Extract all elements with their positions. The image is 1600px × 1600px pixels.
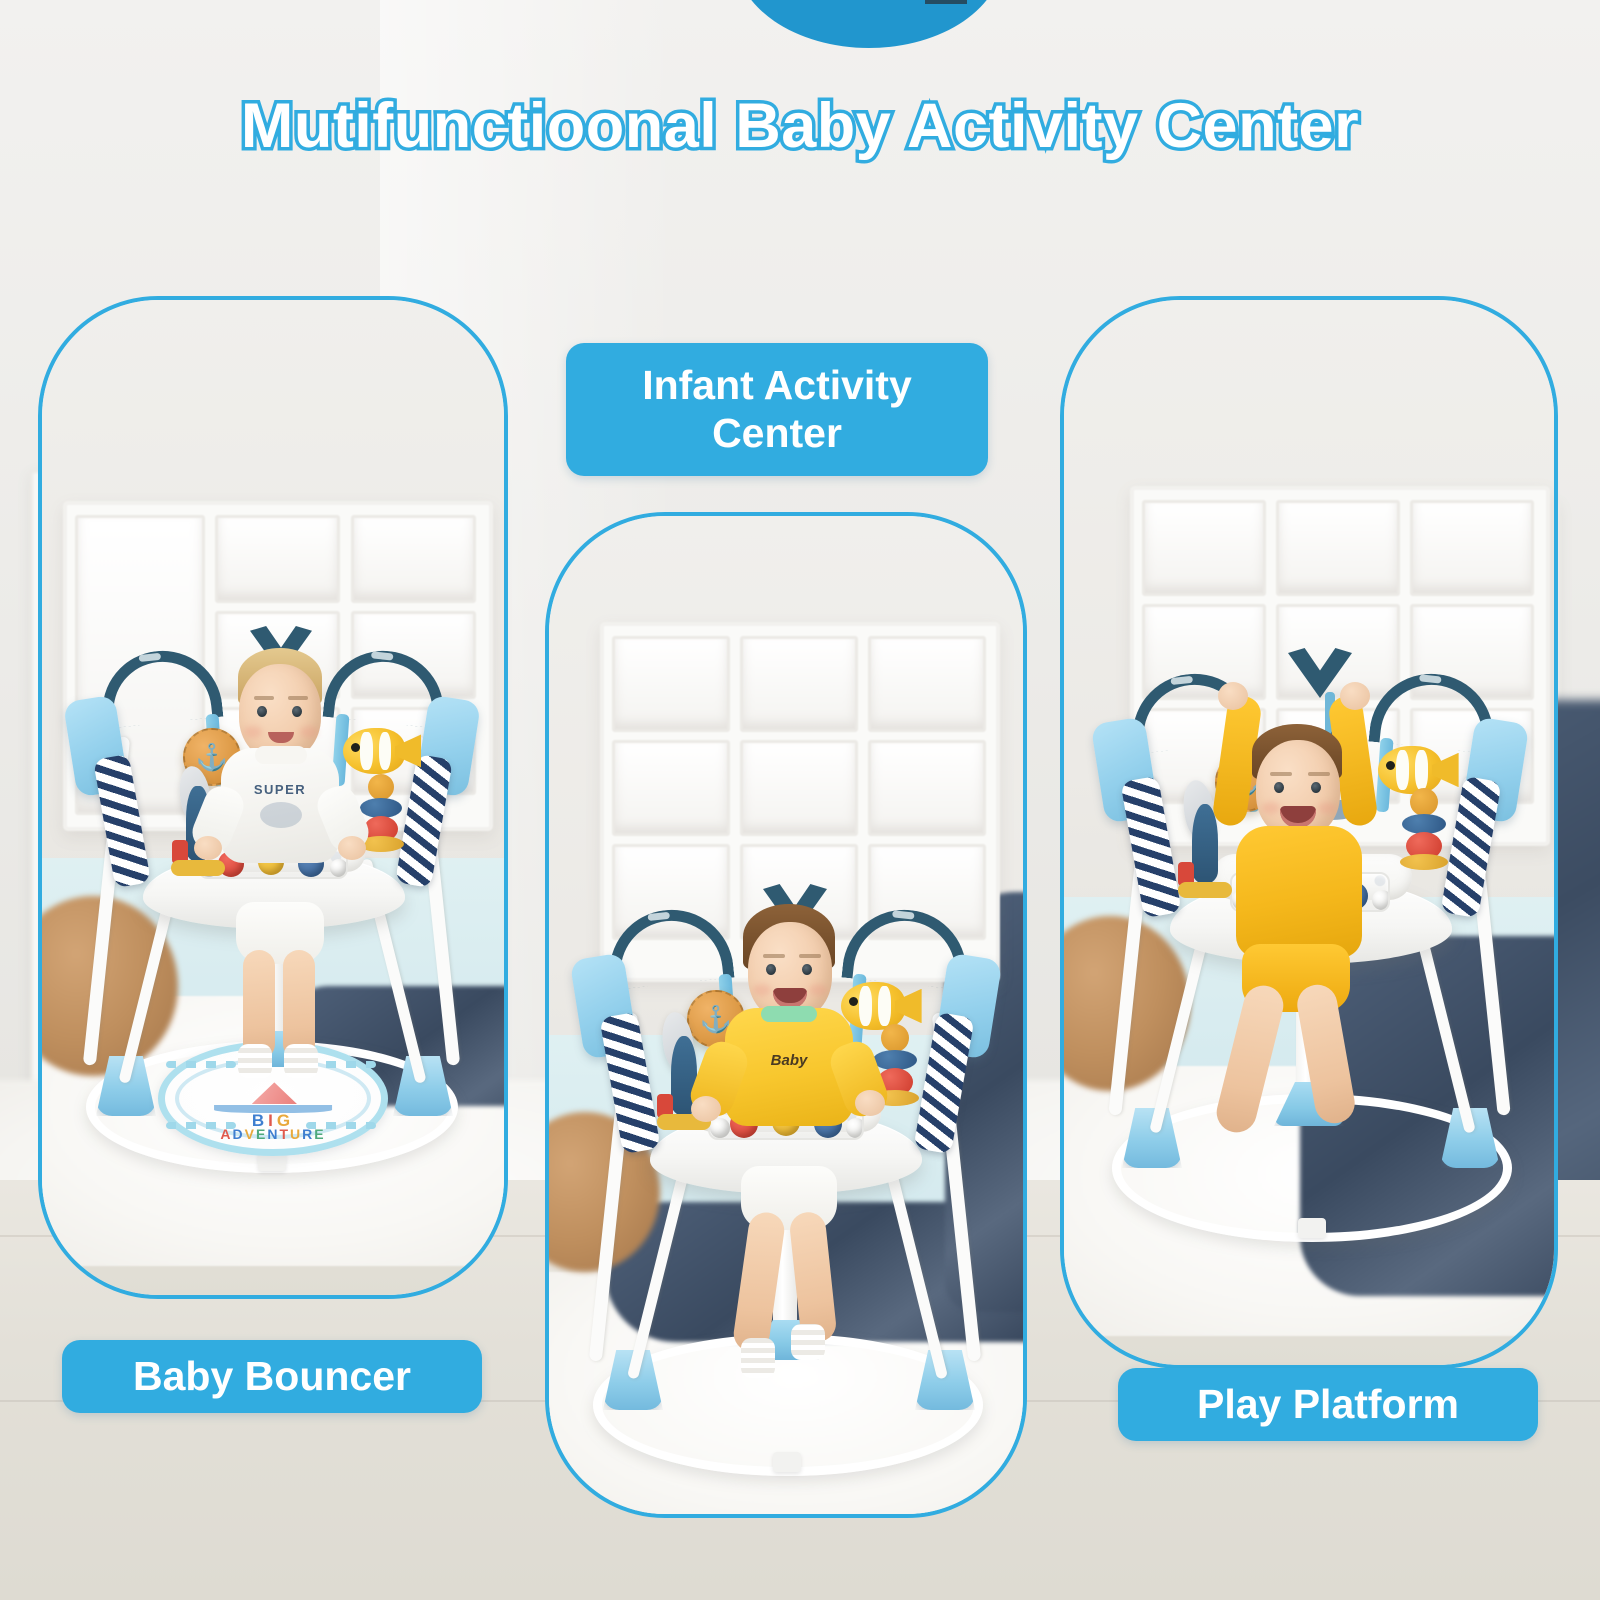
badge-play-platform[interactable]: Play Platform [1118, 1368, 1538, 1441]
product-infant-activity-center: ⚓ [545, 512, 1027, 1518]
baby-eyebrow [1270, 772, 1292, 776]
baby-hand [1218, 682, 1248, 710]
baby-leg [731, 1210, 786, 1354]
baby-hand [194, 836, 222, 860]
scene-infant-activity-center: ⚓ [545, 512, 1027, 1518]
baby-eye [257, 706, 267, 717]
baby-cheek [753, 984, 771, 996]
baby-cheek [300, 726, 318, 738]
baby-cheek [1318, 802, 1336, 814]
baby-in-bouncer: SUPER [38, 296, 508, 1299]
baby-sock [791, 1324, 825, 1360]
baby-eyebrow [763, 954, 785, 958]
baby-sock [741, 1338, 775, 1378]
scene-play-platform: ⚓ [1060, 296, 1558, 1369]
baby-on-play-platform [1060, 296, 1558, 1369]
panel-infant-activity-center[interactable]: ⚓ [545, 512, 1027, 1518]
badge-infant-activity-center[interactable]: Infant Activity Center [566, 343, 988, 476]
baby-hand [1340, 682, 1370, 710]
baby-eyebrow [254, 696, 274, 700]
baby-eyebrow [288, 696, 308, 700]
baby-cheek [244, 726, 262, 738]
product-play-platform: ⚓ [1060, 296, 1558, 1369]
badge-baby-bouncer[interactable]: Baby Bouncer [62, 1340, 482, 1413]
baby-sock [238, 1044, 272, 1078]
panel-baby-bouncer[interactable]: BIG ADVENTURE [38, 296, 508, 1299]
scene-baby-bouncer: BIG ADVENTURE [38, 296, 508, 1299]
baby-collar [255, 746, 307, 764]
baby-eye [802, 964, 812, 975]
product-baby-bouncer: BIG ADVENTURE [38, 296, 508, 1299]
baby-eye [1311, 782, 1321, 793]
baby-cheek [1262, 802, 1280, 814]
baby-collar [761, 1006, 817, 1022]
panel-play-platform[interactable]: ⚓ [1060, 296, 1558, 1369]
baby-eye [766, 964, 776, 975]
baby-hand [338, 836, 366, 860]
baby-cheek [809, 984, 827, 996]
baby-body [1236, 826, 1362, 958]
baby-eyebrow [1308, 772, 1330, 776]
baby-eye [292, 706, 302, 717]
baby-eyebrow [799, 954, 821, 958]
baby-leg [1212, 981, 1287, 1136]
baby-eye [1274, 782, 1284, 793]
baby-leg [1294, 982, 1358, 1127]
baby-sock [284, 1044, 318, 1078]
baby-shirt-graphic [260, 802, 302, 828]
baby-hand [855, 1090, 885, 1116]
mountain-icon [925, 0, 967, 4]
baby-in-activity-center: Baby [545, 512, 1027, 1518]
page-title: Mutifunctioonal Baby Activity Center [0, 90, 1600, 162]
baby-hand [691, 1096, 721, 1122]
